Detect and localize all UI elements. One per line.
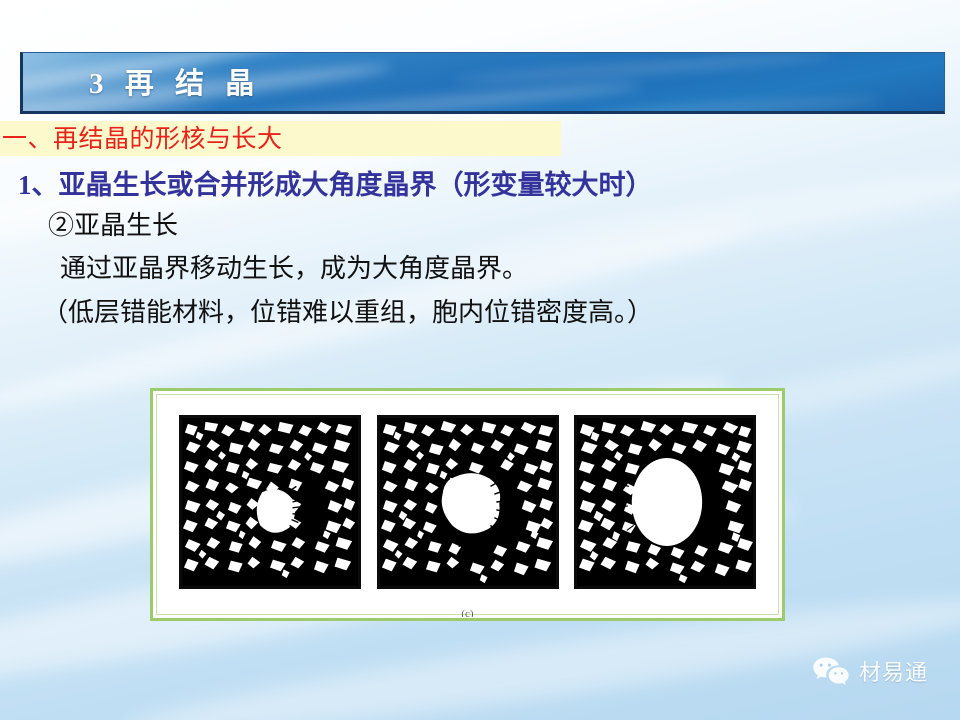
body-text-block: 1、亚晶生长或合并形成大角度晶界（形变量较大时） ②亚晶生长 通过亚晶界移动生长… [0,165,960,335]
watermark: 材易通 [812,655,928,687]
body-line-2: ②亚晶生长 [0,205,960,247]
banner-cloud-streak [583,95,883,114]
slide-canvas: 3 再 结 晶 一、再结晶的形核与长大 1、亚晶生长或合并形成大角度晶界（形变量… [0,0,960,720]
micrograph-panel-c [574,415,756,589]
body-line-1: 1、亚晶生长或合并形成大角度晶界（形变量较大时） [0,165,960,205]
wechat-icon [812,656,850,686]
slide-title-banner: 3 再 结 晶 [20,52,945,114]
figure-caption: (c) [157,608,778,617]
micrograph-panel-b [377,415,559,589]
watermark-text: 材易通 [859,655,928,687]
micrograph-panel-a [179,415,361,589]
section-subtitle-text: 一、再结晶的形核与长大 [0,126,283,151]
figure-container: (c) [150,388,785,621]
body-line-4: （低层错能材料，位错难以重组，胞内位错密度高。） [0,291,960,335]
figure-inner-frame: (c) [156,394,779,615]
slide-title: 3 再 结 晶 [89,60,261,102]
body-line-3: 通过亚晶界移动生长，成为大角度晶界。 [0,247,960,291]
section-subtitle-bar: 一、再结晶的形核与长大 [0,121,561,156]
banner-cloud-streak [453,52,833,86]
